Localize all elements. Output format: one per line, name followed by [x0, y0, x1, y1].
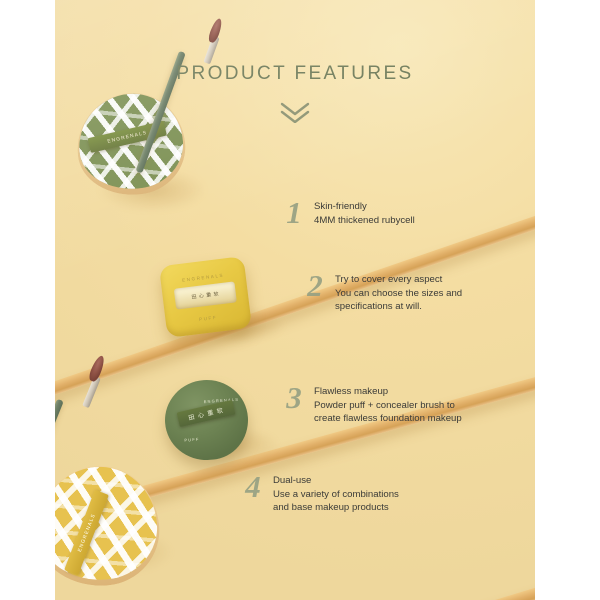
compact-window: 田 心 重 软: [174, 281, 237, 310]
feature-text-3: Flawless makeup Powder puff + concealer …: [314, 385, 462, 426]
compact-bottom-text: PUFF: [166, 310, 251, 325]
compact-window-glyphs: 田 心 重 软: [191, 290, 219, 300]
product-photo-area: ENGRENALS ENGRENALS 田 心 重 软 PUFF ENGRENA…: [55, 0, 535, 600]
brush-bristle-top: [207, 17, 224, 44]
feature-number-4: 4: [242, 471, 264, 502]
double-chevron-down-icon: [55, 101, 535, 123]
feature-text-4: Dual-use Use a variety of combinations a…: [273, 474, 399, 515]
feature-item-1: 1 Skin-friendly 4MM thickened rubycell: [283, 200, 415, 231]
page-title: PRODUCT FEATURES: [55, 63, 535, 85]
feature-number-1: 1: [283, 197, 305, 228]
yellow-square-compact-case: ENGRENALS 田 心 重 软 PUFF: [159, 256, 252, 338]
feature-number-2: 2: [304, 270, 326, 301]
feature-number-3: 3: [283, 382, 305, 413]
brush-bristle-bottom: [87, 354, 106, 383]
concealer-brush-top: [155, 12, 265, 172]
feature-item-2: 2 Try to cover every aspect You can choo…: [304, 273, 462, 314]
infographic-canvas: ENGRENALS ENGRENALS 田 心 重 软 PUFF ENGRENA…: [0, 0, 600, 600]
compact-green-sub: PUFF: [184, 437, 200, 443]
feature-text-1: Skin-friendly 4MM thickened rubycell: [314, 200, 415, 227]
feature-item-4: 4 Dual-use Use a variety of combinations…: [242, 474, 399, 515]
brush-handle-bottom: [55, 399, 64, 513]
feature-item-3: 3 Flawless makeup Powder puff + conceale…: [283, 385, 462, 426]
concealer-brush-bottom: [55, 336, 165, 496]
feature-text-2: Try to cover every aspect You can choose…: [335, 273, 462, 314]
